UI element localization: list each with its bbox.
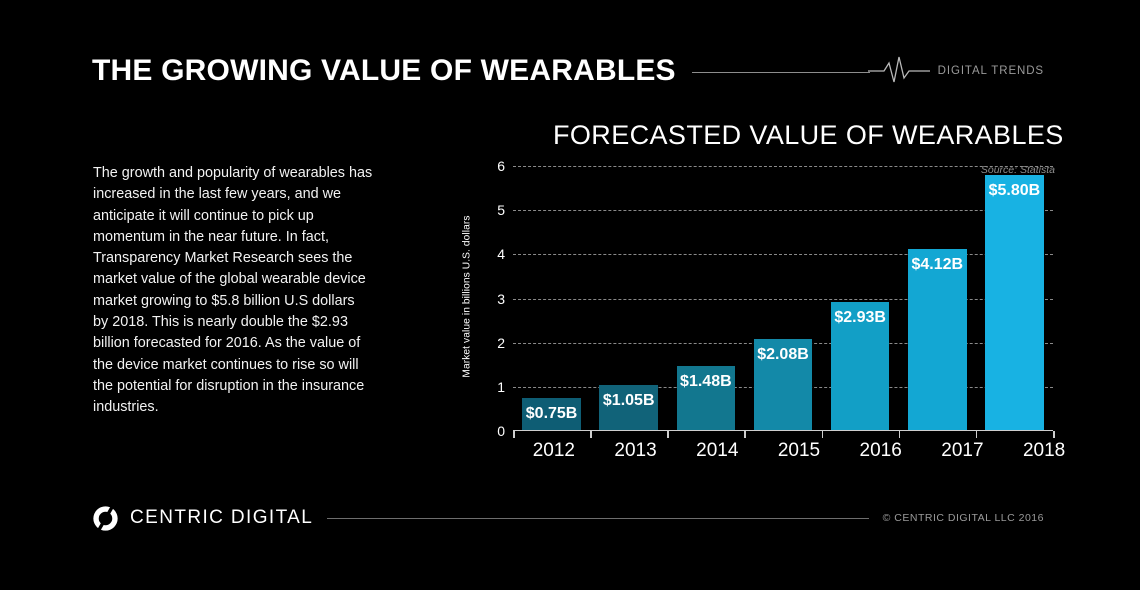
bar-2017: $4.12B <box>908 249 967 431</box>
brand-label: DIGITAL TRENDS <box>938 65 1044 77</box>
bar-value-label: $5.80B <box>989 183 1041 199</box>
bar-2013: $1.05B <box>599 385 658 431</box>
x-axis-label-2012: 2012 <box>513 440 595 462</box>
header: THE GROWING VALUE OF WEARABLES DIGITAL T… <box>92 48 1044 94</box>
chart-title: FORECASTED VALUE OF WEARABLES <box>553 120 1053 151</box>
bar-2016: $2.93B <box>831 302 890 431</box>
x-tick <box>822 431 824 438</box>
header-divider <box>692 72 870 73</box>
centric-circle-logo-icon <box>92 505 119 532</box>
bar-2015: $2.08B <box>754 339 813 431</box>
footer: CENTRIC DIGITAL © CENTRIC DIGITAL LLC 20… <box>92 503 1044 533</box>
x-axis-labels: 2012201320142015201620172018 <box>481 440 1053 470</box>
x-tick <box>513 431 515 438</box>
bar-value-label: $1.48B <box>680 374 732 390</box>
y-tick-label: 4 <box>481 246 505 262</box>
infographic-page: THE GROWING VALUE OF WEARABLES DIGITAL T… <box>0 0 1140 590</box>
y-tick-label: 5 <box>481 202 505 218</box>
bar-2012: $0.75B <box>522 398 581 431</box>
x-axis-label-2014: 2014 <box>676 440 758 462</box>
x-axis-ticks <box>513 431 1053 438</box>
x-axis-label-2017: 2017 <box>922 440 1004 462</box>
y-tick-label: 0 <box>481 423 505 439</box>
page-title: THE GROWING VALUE OF WEARABLES <box>92 56 676 86</box>
x-axis-label-2013: 2013 <box>595 440 677 462</box>
x-tick <box>667 431 669 438</box>
bar-value-label: $2.08B <box>757 347 809 363</box>
x-tick <box>1053 431 1055 438</box>
logo-wordmark: CENTRIC DIGITAL <box>130 507 313 529</box>
y-tick-label: 2 <box>481 335 505 351</box>
y-axis-label: Market value in billions U.S. dollars <box>459 166 475 426</box>
bar-value-label: $0.75B <box>526 406 578 422</box>
y-axis-label-text: Market value in billions U.S. dollars <box>462 215 473 377</box>
bar-value-label: $4.12B <box>911 257 963 273</box>
x-tick <box>744 431 746 438</box>
bar-value-label: $2.93B <box>834 310 886 326</box>
body-copy: The growth and popularity of wearables h… <box>93 163 373 419</box>
x-axis-label-2016: 2016 <box>840 440 922 462</box>
plot-area: 0123456 $0.75B$1.05B$1.48B$2.08B$2.93B$4… <box>481 166 1053 431</box>
x-tick <box>976 431 978 438</box>
bar-2014: $1.48B <box>677 366 736 431</box>
y-tick-label: 3 <box>481 291 505 307</box>
x-tick <box>899 431 901 438</box>
copyright-text: © CENTRIC DIGITAL LLC 2016 <box>883 512 1044 524</box>
y-tick-label: 6 <box>481 158 505 174</box>
footer-divider <box>327 518 868 519</box>
bar-series: $0.75B$1.05B$1.48B$2.08B$2.93B$4.12B$5.8… <box>513 166 1053 431</box>
x-axis-label-2018: 2018 <box>1003 440 1085 462</box>
bar-value-label: $1.05B <box>603 393 655 409</box>
y-tick-label: 1 <box>481 379 505 395</box>
x-axis-label-2015: 2015 <box>758 440 840 462</box>
heartbeat-pulse-icon <box>868 56 930 86</box>
x-tick <box>590 431 592 438</box>
chart: FORECASTED VALUE OF WEARABLES Source: St… <box>455 120 1055 470</box>
bar-2018: $5.80B <box>985 175 1044 431</box>
